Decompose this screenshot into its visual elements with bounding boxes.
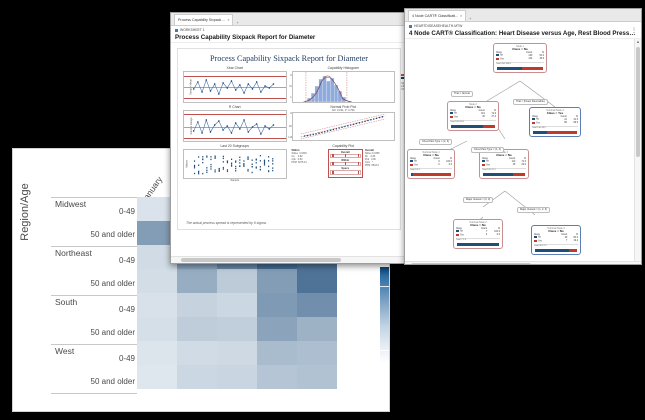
row-age-young: 0-49 bbox=[119, 354, 135, 363]
sixpack-horizontal-scrollbar[interactable] bbox=[171, 256, 413, 263]
cart-node-row: Yes4529.0 bbox=[482, 164, 526, 167]
cart-node[interactable]: Terminal Node 2Class = NoClassCount%No71… bbox=[453, 219, 503, 250]
scroll-thumb[interactable] bbox=[636, 47, 640, 157]
cart-node[interactable]: Terminal Node 1Class = NoClassCount%No91… bbox=[407, 149, 455, 180]
worksheet-icon bbox=[175, 29, 178, 32]
panel-title: Xbar Chart bbox=[183, 66, 287, 70]
heatmap-cell[interactable] bbox=[177, 269, 217, 293]
cart-node-table: ClassCount%No7100.0Yes00.0 bbox=[456, 228, 500, 238]
panel-plot: Sample Range bbox=[183, 110, 287, 142]
cart-node-bar bbox=[532, 130, 578, 136]
cart-node-bar bbox=[534, 248, 578, 254]
worksheet-label: WORKSHEET 1 bbox=[180, 28, 205, 32]
sixpack-tabstrip[interactable]: Process Capability Sixpack ... × + bbox=[171, 13, 413, 26]
row-age-old: 50 and older bbox=[91, 377, 135, 386]
row-group-name: Northeast bbox=[55, 248, 92, 258]
cart-node-footer: Total 130 44.2 bbox=[532, 126, 578, 130]
panel-capability-plot: Capability Plot Within StDev 0.0345 Cp 0… bbox=[292, 144, 396, 182]
panel-x-label: Sample bbox=[183, 179, 287, 182]
row-group-west: West 0-49 50 and older bbox=[51, 344, 137, 394]
panel-plot: Sample Mean bbox=[183, 71, 287, 103]
tab-label: Process Capability Sixpack ... bbox=[178, 18, 225, 22]
colorbar-tick-high bbox=[380, 286, 389, 287]
cart-document-title: 4 Node CART® Classification: Heart Disea… bbox=[409, 30, 637, 37]
cart-node-footer: Total 294 100.0 bbox=[496, 62, 544, 66]
capability-ppm-overall: PPM 6543.2 bbox=[365, 164, 395, 167]
heatmap-cell[interactable] bbox=[137, 317, 177, 341]
cart-node-table: ClassCount%No9100.0Yes00.0 bbox=[410, 158, 452, 168]
cart-node-table: ClassCount%No2980.6Yes719.4 bbox=[534, 234, 578, 244]
sixpack-report-title: Process Capability Sixpack Report for Di… bbox=[178, 54, 400, 63]
heatmap-row-labels: Midwest 0-49 50 and older Northeast 0-49… bbox=[51, 197, 137, 389]
scroll-thumb[interactable] bbox=[181, 258, 341, 262]
cart-node-table: ClassCount%No4131.5Yes8968.5 bbox=[532, 116, 578, 126]
cart-node-footer: Total 36 12.2 bbox=[534, 244, 578, 248]
row-age-young: 0-49 bbox=[119, 207, 135, 216]
sixpack-worksheet-line: WORKSHEET 1 bbox=[175, 28, 409, 32]
heatmap-cell[interactable] bbox=[177, 293, 217, 317]
heatmap-colorbar: 200,000 0 bbox=[380, 267, 389, 363]
sixpack-subheader: WORKSHEET 1 Process Capability Sixpack R… bbox=[171, 26, 413, 43]
cart-node-row: Yes4527.4 bbox=[450, 116, 496, 119]
cart-node[interactable]: Terminal Node 3Class = YesClassCount%No4… bbox=[529, 107, 581, 138]
cart-split-label[interactable]: Thal = (Fixed, Reversible) bbox=[513, 99, 548, 105]
scroll-thumb[interactable] bbox=[411, 263, 531, 266]
worksheet-label: HEARTDISEASEHEALTH.MTW bbox=[414, 24, 462, 28]
cart-node-footer: Total 9 3.1 bbox=[410, 168, 452, 172]
scroll-up-icon[interactable]: ▲ bbox=[635, 39, 641, 45]
heatmap-cell[interactable] bbox=[297, 365, 337, 389]
row-group-northeast: Northeast 0-49 50 and older bbox=[51, 246, 137, 295]
heatmap-cell[interactable] bbox=[257, 341, 297, 365]
panel-r-chart: R Chart Sample Range bbox=[183, 105, 287, 142]
cart-node-bar bbox=[456, 242, 500, 248]
cart-node-class: Class = No bbox=[534, 230, 578, 234]
cart-node-class: Class = No bbox=[450, 106, 496, 110]
panel-last-20-subgroups: Last 20 Subgroups Values Sample bbox=[183, 144, 287, 182]
cart-node[interactable]: Node 2Class = NoClassCount%No11972.6Yes4… bbox=[447, 101, 499, 132]
close-icon[interactable]: × bbox=[227, 18, 229, 22]
heatmap-cell[interactable] bbox=[137, 341, 177, 365]
heatmap-cell[interactable] bbox=[177, 317, 217, 341]
row-age-old: 50 and older bbox=[91, 328, 135, 337]
cart-split-label[interactable]: Major Vessels = (1, 2, 3) bbox=[517, 207, 550, 213]
panel-title: Last 20 Subgroups bbox=[183, 144, 287, 148]
row-age-young: 0-49 bbox=[119, 256, 135, 265]
cart-node-row: Yes719.4 bbox=[534, 240, 578, 243]
heatmap-cell[interactable] bbox=[297, 269, 337, 293]
heatmap-cell[interactable] bbox=[297, 293, 337, 317]
panel-capability-histogram: Capability Histogram bbox=[292, 66, 396, 103]
panel-y-label: Values bbox=[185, 160, 188, 168]
panel-plot: Overall Within Specifications LSL 0.5 US… bbox=[292, 71, 396, 103]
cart-node-class: Class = No bbox=[482, 154, 526, 158]
add-tab-icon[interactable]: + bbox=[236, 21, 238, 25]
cart-node-footer: Total 155 52.7 bbox=[482, 168, 526, 172]
cart-split-label[interactable]: Chest Pain Type = (1, 4) bbox=[471, 147, 504, 153]
cart-content-pane[interactable]: Node 1Class = NoClassCount%No16054.4Yes1… bbox=[405, 39, 641, 266]
cart-split-label[interactable]: Chest Pain Type = (2, 3) bbox=[419, 139, 452, 145]
sixpack-footnote: The actual process spread is represented… bbox=[186, 221, 267, 225]
cart-node-table: ClassCount%No11972.6Yes4527.4 bbox=[450, 110, 496, 120]
row-group-south: South 0-49 50 and older bbox=[51, 295, 137, 344]
heatmap-cell[interactable] bbox=[257, 317, 297, 341]
cart-report-window[interactable]: 4 Node CART® Classificati... × + HEARTDI… bbox=[404, 8, 642, 265]
capability-plot-box: Overall Within Specs bbox=[328, 149, 364, 178]
panel-title: Capability Histogram bbox=[292, 66, 396, 70]
row-age-old: 50 and older bbox=[91, 230, 135, 239]
heatmap-cell[interactable] bbox=[217, 317, 257, 341]
cart-node-class: Class = No bbox=[496, 48, 544, 52]
heatmap-cell[interactable] bbox=[177, 341, 217, 365]
cart-node-table: ClassCount%No16054.4Yes13445.6 bbox=[496, 52, 544, 62]
colorbar-gradient bbox=[380, 267, 389, 363]
cart-node-class: Class = No bbox=[456, 224, 500, 228]
panel-normal-prob-plot: Normal Prob Plot AD: 0.231, P: 0.796 bbox=[292, 105, 396, 142]
screenshot-stage: Region/Age January Midwest 0-49 50 and o… bbox=[0, 0, 645, 420]
capability-ppm-within: PPM 6075.41 bbox=[292, 161, 326, 164]
cart-node[interactable]: Terminal Node 4Class = NoClassCount%No29… bbox=[531, 225, 581, 256]
tab-label: 4 Node CART® Classificati... bbox=[412, 14, 458, 18]
panel-plot bbox=[292, 112, 396, 141]
cart-node-bar bbox=[410, 172, 452, 178]
heatmap-cell[interactable] bbox=[257, 293, 297, 317]
heatmap-cell[interactable] bbox=[217, 269, 257, 293]
heatmap-cell[interactable] bbox=[217, 293, 257, 317]
cart-node-row: Yes00.0 bbox=[410, 164, 452, 167]
tab-sixpack[interactable]: Process Capability Sixpack ... × bbox=[174, 14, 233, 25]
cart-node-bar bbox=[482, 172, 526, 178]
cart-vertical-scrollbar[interactable]: ▲ ▼ bbox=[634, 39, 641, 266]
cart-node-class: Class = Yes bbox=[532, 112, 578, 116]
cart-horizontal-scrollbar[interactable] bbox=[405, 261, 641, 266]
tab-cart[interactable]: 4 Node CART® Classificati... × bbox=[408, 10, 466, 21]
cart-node-row: Yes13445.6 bbox=[496, 58, 544, 61]
heatmap-cell[interactable] bbox=[177, 365, 217, 389]
cart-node[interactable]: Node 3Class = NoClassCount%No11071.0Yes4… bbox=[479, 149, 529, 180]
heatmap-cell[interactable] bbox=[257, 365, 297, 389]
sixpack-content-pane[interactable]: Process Capability Sixpack Report for Di… bbox=[171, 43, 413, 265]
cart-worksheet-line: HEARTDISEASEHEALTH.MTW bbox=[409, 24, 637, 28]
cart-node-table: ClassCount%No11071.0Yes4529.0 bbox=[482, 158, 526, 168]
heatmap-y-axis-title: Region/Age bbox=[19, 167, 31, 257]
row-group-name: West bbox=[55, 346, 74, 356]
heatmap-cell[interactable] bbox=[297, 317, 337, 341]
close-icon[interactable]: × bbox=[460, 14, 462, 18]
colorbar-tick-low bbox=[380, 350, 389, 351]
cart-subheader: HEARTDISEASEHEALTH.MTW 4 Node CART® Clas… bbox=[405, 22, 641, 39]
row-group-name: Midwest bbox=[55, 199, 86, 209]
row-group-name: South bbox=[55, 297, 77, 307]
heatmap-cell[interactable] bbox=[137, 293, 177, 317]
cart-node[interactable]: Node 1Class = NoClassCount%No16054.4Yes1… bbox=[493, 43, 547, 74]
heatmap-cell[interactable] bbox=[297, 341, 337, 365]
panel-plot: Values bbox=[183, 149, 287, 179]
sixpack-document-title: Process Capability Sixpack Report for Di… bbox=[175, 34, 409, 41]
cart-node-bar bbox=[450, 124, 496, 130]
heatmap-cell[interactable] bbox=[257, 269, 297, 293]
cart-node-row: Yes00.0 bbox=[456, 234, 500, 237]
sixpack-report-window[interactable]: Process Capability Sixpack ... × + WORKS… bbox=[170, 12, 414, 264]
cart-node-footer: Total 164 55.8 bbox=[450, 120, 496, 124]
worksheet-icon bbox=[409, 25, 412, 28]
more-options-icon[interactable]: ⋮ bbox=[631, 28, 637, 34]
panel-title: R Chart bbox=[183, 105, 287, 109]
heatmap-cell[interactable] bbox=[217, 341, 257, 365]
heatmap-cell[interactable] bbox=[137, 365, 177, 389]
heatmap-cell[interactable] bbox=[217, 365, 257, 389]
cart-node-class: Class = No bbox=[410, 154, 452, 158]
sixpack-report-card: Process Capability Sixpack Report for Di… bbox=[177, 48, 401, 230]
row-group-midwest: Midwest 0-49 50 and older bbox=[51, 197, 137, 246]
panel-title: Capability Plot bbox=[292, 144, 396, 148]
heatmap-cell[interactable] bbox=[137, 269, 177, 293]
sixpack-panel-grid: Xbar Chart Sample Mean bbox=[178, 66, 400, 182]
cart-split-label[interactable]: Thal = Normal bbox=[451, 91, 473, 97]
row-age-young: 0-49 bbox=[119, 305, 135, 314]
cart-node-bar bbox=[496, 66, 544, 72]
cart-tree-canvas[interactable]: Node 1Class = NoClassCount%No16054.4Yes1… bbox=[405, 39, 635, 262]
add-tab-icon[interactable]: + bbox=[469, 17, 471, 21]
panel-xbar-chart: Xbar Chart Sample Mean bbox=[183, 66, 287, 103]
row-age-old: 50 and older bbox=[91, 279, 135, 288]
cart-tabstrip[interactable]: 4 Node CART® Classificati... × + bbox=[405, 9, 641, 22]
cart-split-label[interactable]: Major Vessels = (0, 4) bbox=[463, 197, 493, 203]
cart-node-footer: Total 7 2.4 bbox=[456, 238, 500, 242]
cart-node-row: Yes8968.5 bbox=[532, 122, 578, 125]
